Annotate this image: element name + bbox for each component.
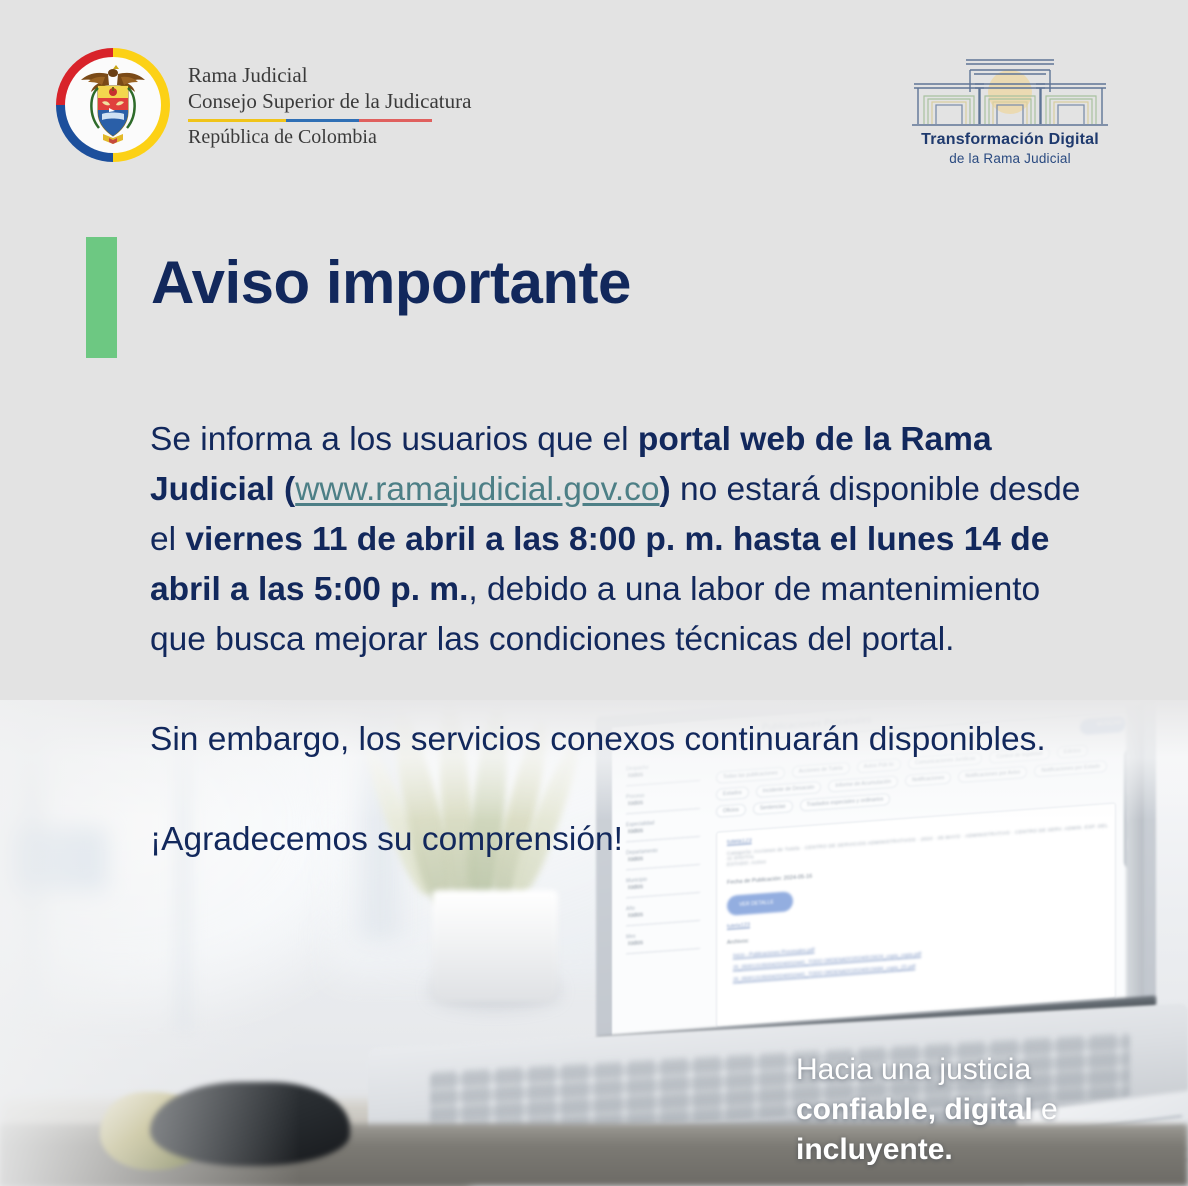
paragraph-gap xyxy=(150,765,1095,815)
header: Rama Judicial Consejo Superior de la Jud… xyxy=(0,0,1188,200)
logo-line-1: Rama Judicial xyxy=(188,63,471,89)
p1-part1: Se informa a los usuarios que el xyxy=(150,421,638,458)
screen-filter[interactable]: Año Todos xyxy=(626,901,700,926)
tricolor-yellow xyxy=(188,119,286,122)
logo-line-3: República de Colombia xyxy=(188,126,471,149)
tagline-line-2-bold: confiable, digital xyxy=(796,1093,1033,1126)
transformacion-digital-title: Transformación Digital xyxy=(904,130,1116,150)
tricolor-blue xyxy=(286,119,359,122)
courthouse-building-icon xyxy=(904,48,1116,130)
notice-paragraph-2: Sin embargo, los servicios conexos conti… xyxy=(150,715,1095,765)
colombia-coat-of-arms-icon xyxy=(56,48,170,162)
title-accent-bar xyxy=(86,237,117,358)
screen-result-link-2[interactable]: tutela123 xyxy=(727,922,750,930)
notice-paragraph-3: ¡Agradecemos su comprensión! xyxy=(150,815,1095,865)
tricolor-divider xyxy=(188,119,432,122)
tagline: Hacia una justicia confiable, digital e … xyxy=(796,1050,1096,1170)
screen-file-link[interactable]: Inicio - Publicaciones Procesales.pdf xyxy=(733,948,814,960)
screen-files-label: Archivos: xyxy=(727,938,749,946)
transformacion-digital-subtitle: de la Rama Judicial xyxy=(904,151,1116,166)
tagline-line-2-rest: e xyxy=(1033,1093,1058,1126)
screen-result-date: Fecha de Publicación: 2024-05-16 xyxy=(727,874,812,886)
logo-line-2: Consejo Superior de la Judicatura xyxy=(188,89,471,115)
p1-bold2: ) xyxy=(660,471,671,508)
notice-body: Se informa a los usuarios que el portal … xyxy=(150,415,1095,865)
coat-of-arms-glyph xyxy=(75,64,151,146)
screen-filter[interactable]: Municipio Todos xyxy=(626,873,700,898)
tricolor-red xyxy=(359,119,432,122)
paragraph-gap xyxy=(150,665,1095,715)
logo-text-block: Rama Judicial Consejo Superior de la Jud… xyxy=(188,61,471,149)
portal-url-link[interactable]: www.ramajudicial.gov.co xyxy=(295,471,659,508)
plant-pot xyxy=(432,890,558,1002)
transformacion-digital-logo: Transformación Digital de la Rama Judici… xyxy=(904,48,1116,166)
tagline-line-1: Hacia una justicia xyxy=(796,1053,1031,1086)
tagline-line-3-bold: incluyente. xyxy=(796,1133,953,1166)
screen-filter[interactable]: Mes Todos xyxy=(626,929,700,954)
rama-judicial-logo: Rama Judicial Consejo Superior de la Jud… xyxy=(56,48,471,162)
notice-paragraph-1: Se informa a los usuarios que el portal … xyxy=(150,415,1095,665)
building-mark-glyph xyxy=(904,48,1116,130)
page-title: Aviso importante xyxy=(151,253,631,313)
